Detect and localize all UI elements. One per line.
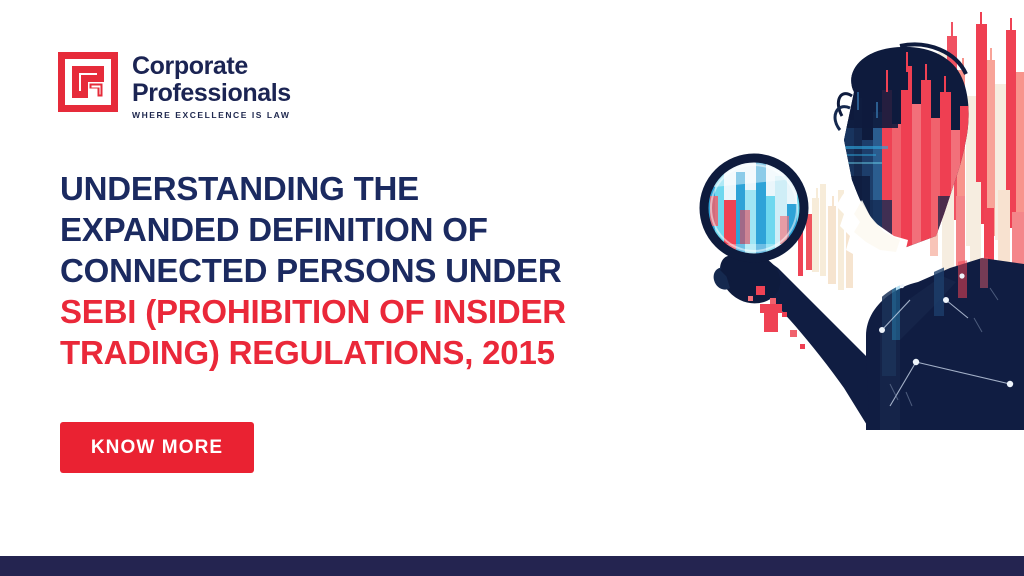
brand-logo[interactable]: Corporate Professionals WHERE EXCELLENCE…: [58, 52, 291, 120]
logo-mark-icon: [58, 52, 118, 112]
logo-wordmark: Corporate Professionals WHERE EXCELLENCE…: [132, 52, 291, 120]
headline-line-2: EXPANDED DEFINITION OF: [60, 209, 710, 250]
headline-line-1: UNDERSTANDING THE: [60, 168, 710, 209]
logo-tagline: WHERE EXCELLENCE IS LAW: [132, 110, 291, 120]
know-more-button[interactable]: KNOW MORE: [60, 422, 254, 473]
promo-banner: Corporate Professionals WHERE EXCELLENCE…: [0, 0, 1024, 576]
footer-bar: [0, 556, 1024, 576]
man-magnifier-chart-illustration: [694, 0, 1024, 430]
logo-name-line-1: Corporate: [132, 53, 291, 80]
headline-line-3: CONNECTED PERSONS UNDER: [60, 250, 710, 291]
headline-line-5: TRADING) REGULATIONS, 2015: [60, 332, 710, 373]
hero-illustration: [694, 0, 1024, 430]
page-title: UNDERSTANDING THE EXPANDED DEFINITION OF…: [60, 168, 710, 373]
logo-name-line-2: Professionals: [132, 80, 291, 107]
headline-line-4: SEBI (PROHIBITION OF INSIDER: [60, 291, 710, 332]
